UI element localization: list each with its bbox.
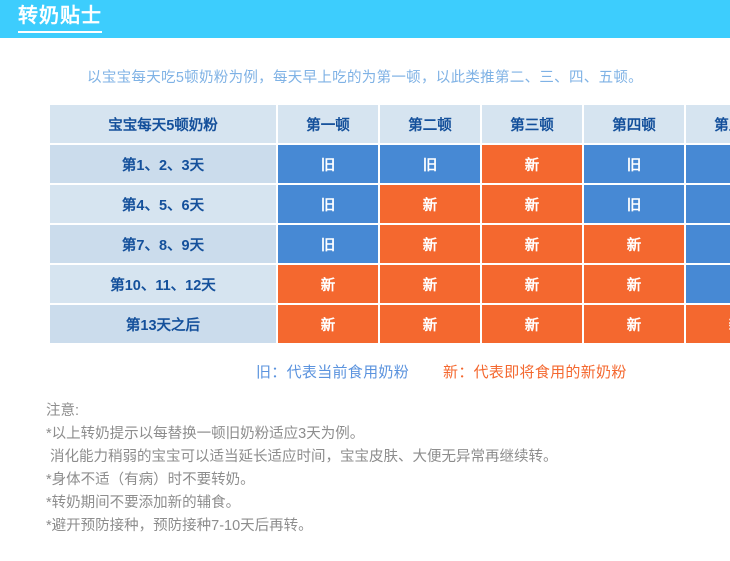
cell-r3-c3: 新 xyxy=(482,265,582,303)
feeding-schedule-table-wrapper: 宝宝每天5顿奶粉 第一顿 第二顿 第三顿 第四顿 第五顿 第1、2、3天 旧 旧… xyxy=(48,103,682,345)
cell-r3-c1: 新 xyxy=(278,265,378,303)
cell-r4-c1: 新 xyxy=(278,305,378,343)
legend-item-new: 新：代表即将食用的新奶粉 xyxy=(443,361,627,382)
intro-text: 以宝宝每天吃5顿奶粉为例，每天早上吃的为第一顿，以此类推第二、三、四、五顿。 xyxy=(0,66,730,87)
notes-line-2: 消化能力稍弱的宝宝可以适当延长适应时间，宝宝皮肤、大便无异常再继续转。 xyxy=(46,446,730,469)
cell-r4-c3: 新 xyxy=(482,305,582,343)
cell-r4-c4: 新 xyxy=(584,305,684,343)
table-row: 第13天之后 新 新 新 新 新 xyxy=(50,305,730,343)
table-header-cell-meal-1: 第一顿 xyxy=(278,105,378,143)
row-label-day-10-12: 第10、11、12天 xyxy=(50,265,276,303)
table-row: 第4、5、6天 旧 新 新 旧 旧 xyxy=(50,185,730,223)
cell-r3-c5: 旧 xyxy=(686,265,730,303)
table-header-row: 宝宝每天5顿奶粉 第一顿 第二顿 第三顿 第四顿 第五顿 xyxy=(50,105,730,143)
table-header-cell-meal-2: 第二顿 xyxy=(380,105,480,143)
feeding-schedule-table: 宝宝每天5顿奶粉 第一顿 第二顿 第三顿 第四顿 第五顿 第1、2、3天 旧 旧… xyxy=(48,103,730,345)
cell-r0-c2: 旧 xyxy=(380,145,480,183)
page-title: 转奶贴士 xyxy=(18,4,102,33)
row-label-day-4-6: 第4、5、6天 xyxy=(50,185,276,223)
notes-line-4: *转奶期间不要添加新的辅食。 xyxy=(46,492,730,515)
cell-r4-c2: 新 xyxy=(380,305,480,343)
cell-r1-c1: 旧 xyxy=(278,185,378,223)
cell-r1-c3: 新 xyxy=(482,185,582,223)
row-label-day-7-9: 第7、8、9天 xyxy=(50,225,276,263)
table-header-cell-meal-4: 第四顿 xyxy=(584,105,684,143)
cell-r0-c3: 新 xyxy=(482,145,582,183)
table-row: 第1、2、3天 旧 旧 新 旧 旧 xyxy=(50,145,730,183)
cell-r1-c4: 旧 xyxy=(584,185,684,223)
cell-r4-c5: 新 xyxy=(686,305,730,343)
notes-line-3: *身体不适（有病）时不要转奶。 xyxy=(46,469,730,492)
cell-r2-c5: 旧 xyxy=(686,225,730,263)
row-label-day-1-3: 第1、2、3天 xyxy=(50,145,276,183)
table-row: 第10、11、12天 新 新 新 新 旧 xyxy=(50,265,730,303)
legend: 旧：代表当前食用奶粉 新：代表即将食用的新奶粉 xyxy=(0,361,730,382)
cell-r3-c2: 新 xyxy=(380,265,480,303)
notes-title: 注意: xyxy=(46,400,730,423)
row-label-day-13-plus: 第13天之后 xyxy=(50,305,276,343)
cell-r0-c4: 旧 xyxy=(584,145,684,183)
table-header-cell-meal-5: 第五顿 xyxy=(686,105,730,143)
cell-r1-c2: 新 xyxy=(380,185,480,223)
table-header-cell-label: 宝宝每天5顿奶粉 xyxy=(50,105,276,143)
table-header-cell-meal-3: 第三顿 xyxy=(482,105,582,143)
legend-item-old: 旧：代表当前食用奶粉 xyxy=(256,361,409,382)
cell-r0-c1: 旧 xyxy=(278,145,378,183)
table-row: 第7、8、9天 旧 新 新 新 旧 xyxy=(50,225,730,263)
page-banner: 转奶贴士 xyxy=(0,0,730,38)
cell-r2-c4: 新 xyxy=(584,225,684,263)
notes-line-5: *避开预防接种，预防接种7-10天后再转。 xyxy=(46,515,730,538)
cell-r3-c4: 新 xyxy=(584,265,684,303)
notes-section: 注意: *以上转奶提示以每替换一顿旧奶粉适应3天为例。 消化能力稍弱的宝宝可以适… xyxy=(0,400,730,538)
cell-r2-c2: 新 xyxy=(380,225,480,263)
cell-r0-c5: 旧 xyxy=(686,145,730,183)
cell-r1-c5: 旧 xyxy=(686,185,730,223)
notes-line-1: *以上转奶提示以每替换一顿旧奶粉适应3天为例。 xyxy=(46,423,730,446)
cell-r2-c3: 新 xyxy=(482,225,582,263)
cell-r2-c1: 旧 xyxy=(278,225,378,263)
